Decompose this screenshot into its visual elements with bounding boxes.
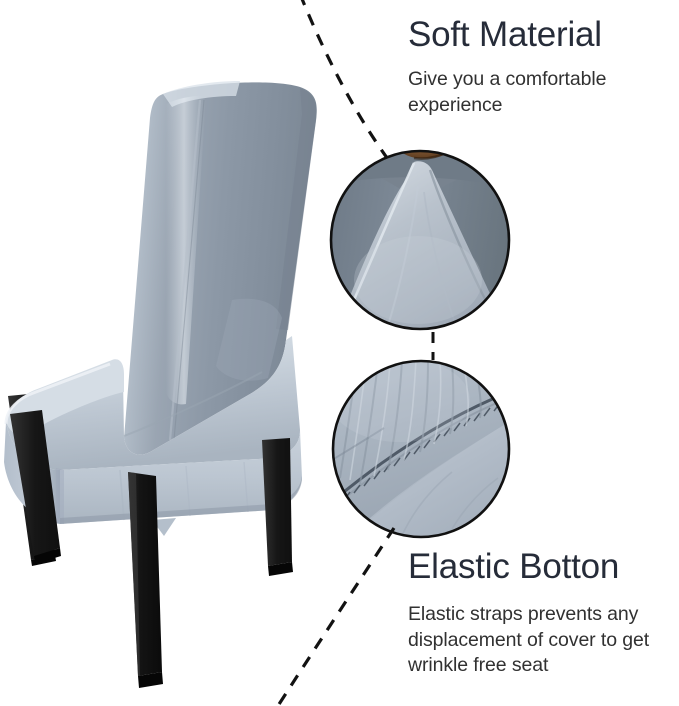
product-feature-graphic: Soft Material Give you a comfortable exp… <box>0 0 679 706</box>
elastic-botton-headline: Elastic Botton <box>408 546 674 588</box>
chair-leg-rear-right <box>262 438 293 576</box>
feature-block-soft-material: Soft Material Give you a comfortable exp… <box>408 14 670 118</box>
feature-block-elastic-botton: Elastic Botton Elastic straps prevents a… <box>408 546 674 679</box>
elastic-botton-description: Elastic straps prevents any displacement… <box>408 588 674 679</box>
soft-material-headline: Soft Material <box>408 14 670 56</box>
soft-material-description: Give you a comfortable experience <box>408 56 670 118</box>
